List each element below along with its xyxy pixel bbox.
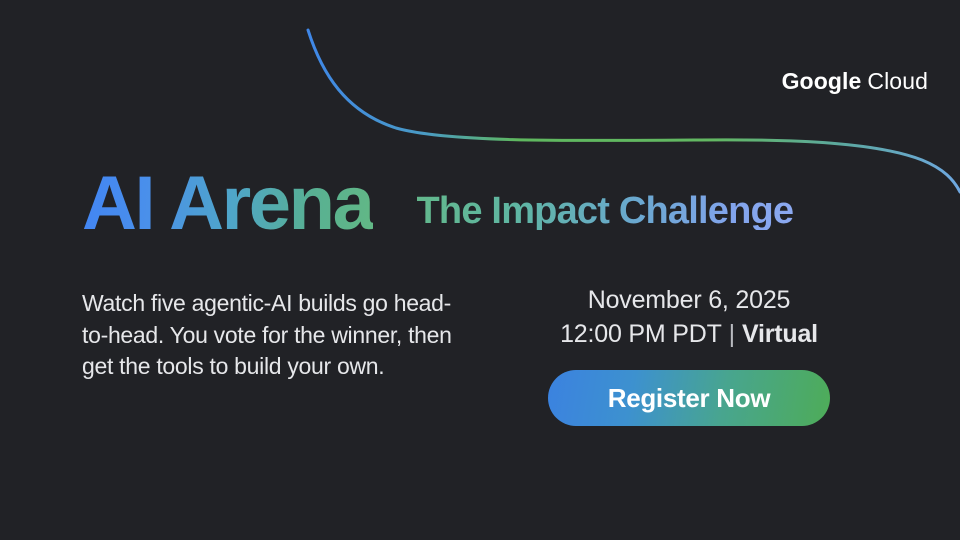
- event-date: November 6, 2025: [548, 284, 830, 316]
- promo-banner: GoogleCloud AI Arena The Impact Challeng…: [0, 0, 960, 540]
- event-venue: Virtual: [742, 320, 818, 348]
- event-details-block: November 6, 2025 12:00 PM PDT|Virtual Re…: [548, 284, 830, 426]
- google-cloud-logo: GoogleCloud: [782, 70, 928, 93]
- hero-description: Watch five agentic-AI builds go head-to-…: [82, 288, 474, 383]
- event-time-text: 12:00 PM PDT: [560, 320, 722, 348]
- logo-google-text: Google: [782, 68, 862, 94]
- register-now-button[interactable]: Register Now: [548, 370, 830, 426]
- event-separator: |: [729, 318, 735, 350]
- page-subtitle: The Impact Challenge: [417, 192, 794, 230]
- event-time-venue: 12:00 PM PDT|Virtual: [548, 318, 830, 350]
- page-title: AI Arena: [82, 166, 373, 242]
- logo-cloud-text: Cloud: [867, 68, 928, 94]
- headline-row: AI Arena The Impact Challenge: [82, 166, 900, 242]
